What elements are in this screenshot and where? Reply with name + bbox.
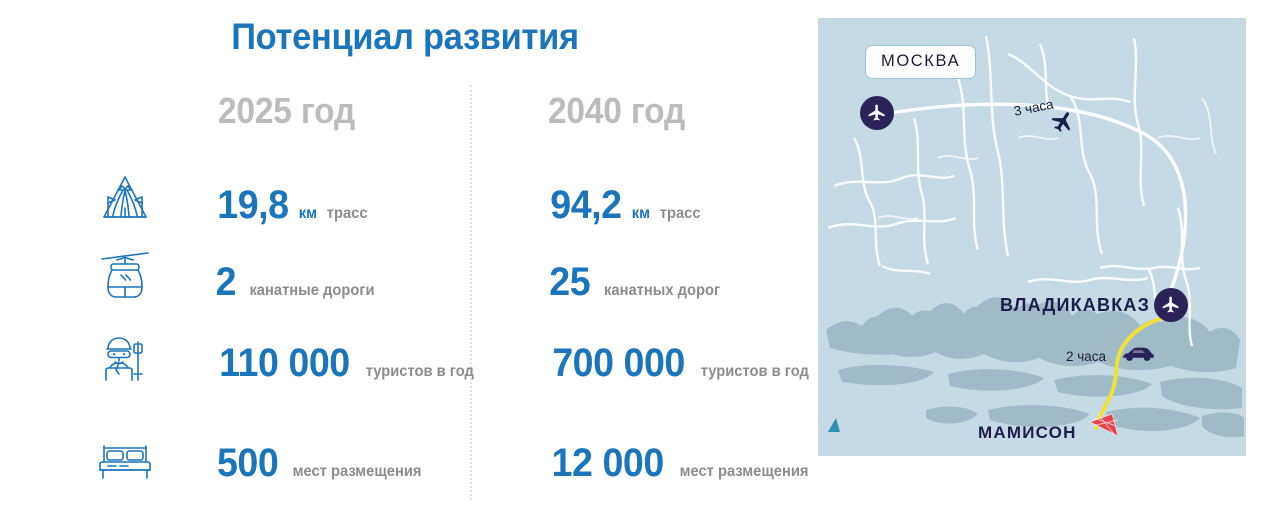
value-2040-slopes: 94,2 км трасс — [548, 183, 702, 228]
ski-slope-icon — [96, 169, 154, 227]
drive-duration-label: 2 часа — [1066, 349, 1106, 364]
page-title: Потенциал развития — [28, 16, 781, 58]
value-label: туристов в год — [701, 363, 809, 381]
value-label: канатных дорог — [604, 282, 720, 300]
skier-icon — [96, 330, 154, 388]
value-label: мест размещения — [680, 463, 809, 481]
value-unit: км — [632, 205, 650, 223]
car-glyph-icon — [1121, 346, 1155, 362]
map-base-graphics — [818, 18, 1246, 456]
value-2040-tourists: 700 000 туристов в год — [548, 341, 814, 386]
column-heading-2040: 2040 год — [548, 90, 685, 132]
value-number: 12 000 — [552, 441, 664, 486]
column-divider — [470, 85, 472, 500]
infographic-root: Потенциал развития 2025 год 2040 год — [0, 0, 1280, 520]
value-label: трасс — [659, 205, 700, 223]
vladikavkaz-airport-pin-icon[interactable] — [1154, 288, 1188, 322]
bed-icon — [96, 430, 154, 488]
value-number: 700 000 — [552, 341, 685, 386]
cable-car-icon — [96, 247, 154, 305]
stats-panel: Потенциал развития 2025 год 2040 год — [0, 0, 810, 520]
value-label: канатные дороги — [249, 282, 374, 300]
value-2040-cablecars: 25 канатных дорог — [548, 260, 725, 305]
value-label: туристов в год — [366, 363, 474, 381]
value-label: мест размещения — [293, 463, 422, 481]
moscow-airport-pin-icon[interactable] — [860, 96, 894, 130]
city-label-mamison[interactable]: МАМИСОН — [978, 423, 1077, 443]
route-map[interactable]: МОСКВА 3 часа ВЛАДИКАВКАЗ 2 часа МАМИСОН — [818, 18, 1246, 456]
value-2025-beds: 500 мест размещения — [215, 441, 427, 486]
value-number: 2 — [216, 260, 236, 305]
value-2025-slopes: 19,8 км трасс — [215, 183, 369, 228]
city-label-moscow[interactable]: МОСКВА — [865, 45, 976, 79]
value-number: 500 — [217, 441, 278, 486]
value-number: 19,8 — [217, 183, 288, 228]
value-number: 110 000 — [219, 341, 350, 386]
value-unit: км — [299, 205, 317, 223]
airplane-glyph-icon — [1048, 109, 1078, 135]
city-label-vladikavkaz[interactable]: ВЛАДИКАВКАЗ — [1000, 295, 1150, 316]
value-number: 25 — [549, 260, 590, 305]
value-label: трасс — [326, 205, 367, 223]
accent-peak — [828, 418, 840, 432]
value-2025-tourists: 110 000 туристов в год — [215, 341, 478, 386]
value-2025-cablecars: 2 канатные дороги — [215, 260, 380, 305]
value-2040-beds: 12 000 мест размещения — [548, 441, 814, 486]
column-heading-2025: 2025 год — [218, 90, 355, 132]
value-number: 94,2 — [550, 183, 621, 228]
